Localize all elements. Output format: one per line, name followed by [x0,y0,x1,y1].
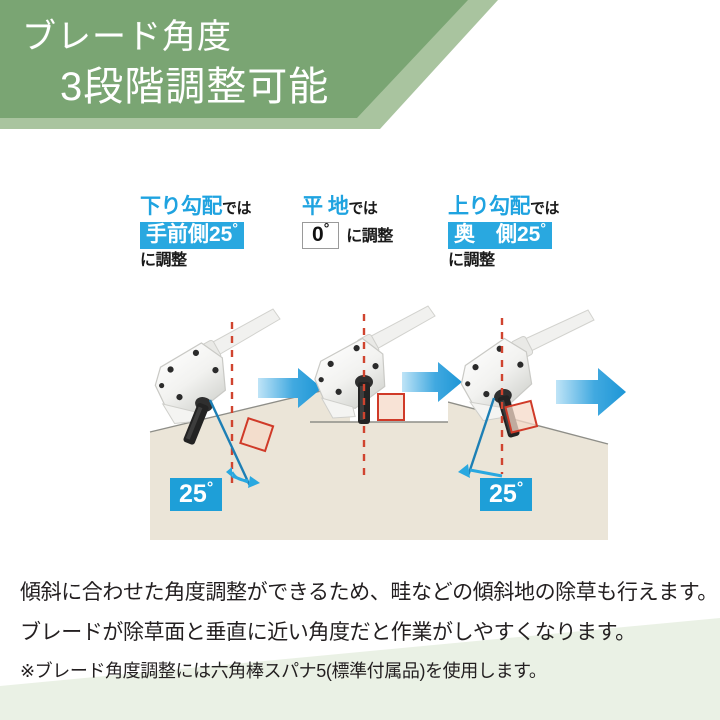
banner-text-group: ブレード角度 3段階調整可能 [0,0,720,136]
condition-suffix: では [530,200,559,217]
body-text-block: 傾斜に合わせた角度調整ができるため、畦などの傾斜地の除草も行えます。 ブレードが… [20,578,710,684]
caption-value-row: 奥 側25° [448,222,668,249]
caption-adjust-row: に調整 [448,253,668,269]
angle-badge-downhill: 25° [170,478,222,511]
infographic-page: ブレード角度 3段階調整可能 下り勾配では 手前側25° に調整 [0,0,720,720]
condition-keyword: 上り勾配 [448,195,530,218]
value-badge: 奥 側25° [448,222,552,249]
angle-value: 25 [179,480,207,508]
header-title-line2: 3段階調整可能 [60,63,329,111]
angle-badge-uphill: 25° [480,478,532,511]
degree-symbol: ° [324,220,330,236]
degree-symbol: ° [232,220,238,236]
degree-symbol: ° [540,220,546,236]
value-badge: 0° [302,222,339,249]
condition-keyword: 平 地 [302,195,348,218]
caption-adjust-inline: に調整 [346,228,393,245]
condition-suffix: では [222,200,251,217]
header-banner: ブレード角度 3段階調整可能 [0,0,720,136]
header-title-line1: ブレード角度 [22,17,232,57]
value-label: 奥 側25 [454,223,540,246]
caption-uphill: 上り勾配では 奥 側25° に調整 [448,196,668,269]
diagram-columns: 下り勾配では 手前側25° に調整 [0,196,720,540]
condition-keyword: 下り勾配 [140,195,222,218]
body-line-1: 傾斜に合わせた角度調整ができるため、畦などの傾斜地の除草も行えます。 [20,578,710,608]
angle-degree-symbol: ° [517,480,523,497]
angle-value: 25 [489,480,517,508]
caption-condition-row: 上り勾配では [448,196,668,217]
body-line-2: ブレードが除草面と垂直に近い角度だと作業がしやすくなります。 [20,618,710,648]
value-badge: 手前側25° [140,222,244,249]
condition-suffix: では [348,200,377,217]
value-label: 手前側25 [146,223,232,246]
angle-degree-symbol: ° [207,480,213,497]
value-label: 0 [312,223,324,246]
column-uphill: 上り勾配では 奥 側25° に調整 [448,196,668,540]
body-line-3: ※ブレード角度調整には六角棒スパナ5(標準付属品)を使用します。 [20,658,710,684]
